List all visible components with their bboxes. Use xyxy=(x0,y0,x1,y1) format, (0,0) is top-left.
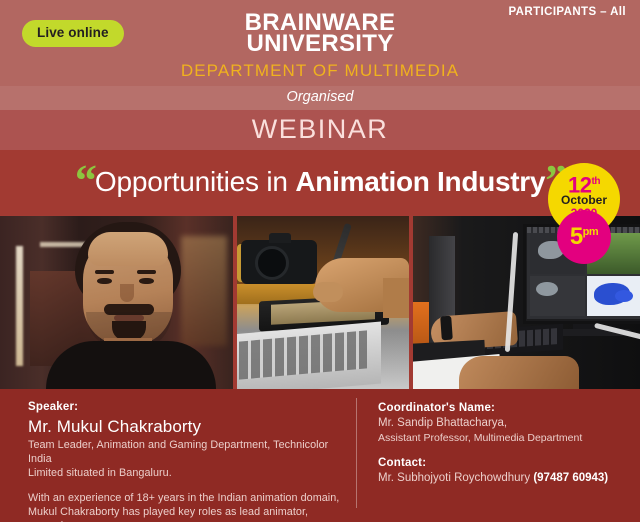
time-hour: 5 xyxy=(570,223,583,250)
event-type-label: WEBINAR xyxy=(0,114,640,145)
time-value: 5pm xyxy=(557,221,611,248)
webinar-poster: Live online PARTICIPANTS – All BRAINWARE… xyxy=(0,0,640,522)
drawing-thumb xyxy=(313,282,343,302)
wristwatch xyxy=(440,316,453,341)
speaker-name: Mr. Mukul Chakraborty xyxy=(28,416,346,438)
portrait-eyebrow-left xyxy=(95,270,114,274)
drawing-wrist xyxy=(383,278,409,318)
event-title: “Opportunities in Animation Industry” xyxy=(0,164,640,204)
coordinator-label: Coordinator's Name: xyxy=(378,401,628,416)
organised-label: Organised xyxy=(0,89,640,105)
title-band: “Opportunities in Animation Industry” xyxy=(0,150,640,215)
portrait-nose xyxy=(120,284,134,302)
portrait-eyebrow-right xyxy=(137,270,156,274)
photo-strip xyxy=(0,216,640,389)
speaker-bio-line-2: Mukul Chakraborty has played key roles a… xyxy=(28,505,346,522)
right-arm xyxy=(459,356,579,389)
university-logo: BRAINWARE UNIVERSITY DEPARTMENT OF MULTI… xyxy=(0,12,640,81)
contact-label: Contact: xyxy=(378,456,628,471)
contact-phone: (97487 60943) xyxy=(533,472,608,484)
model-thumbnail xyxy=(536,282,558,296)
speaker-portrait-photo xyxy=(0,216,233,389)
coordinator-name: Mr. Sandip Bhattacharya, xyxy=(378,416,628,431)
paragraph-gap xyxy=(28,480,346,491)
title-part-light: Opportunities in xyxy=(95,166,296,197)
contact-name: Mr. Subhojyoti Roychowdhury xyxy=(378,472,533,484)
coordinator-contact-column: Coordinator's Name: Mr. Sandip Bhattacha… xyxy=(378,401,628,485)
organised-band: Organised xyxy=(0,86,640,110)
blue-character-head xyxy=(615,290,633,302)
department-label: DEPARTMENT OF MULTIMEDIA xyxy=(0,61,640,81)
webinar-band: WEBINAR xyxy=(0,110,640,150)
header-band: Live online PARTICIPANTS – All BRAINWARE… xyxy=(0,0,640,86)
viewport-blue-character xyxy=(587,276,640,317)
portrait-right-glow xyxy=(181,236,227,346)
speaker-info-column: Speaker: Mr. Mukul Chakraborty Team Lead… xyxy=(28,400,346,522)
paragraph-gap-right xyxy=(378,445,628,456)
portrait-eye-right xyxy=(139,278,154,284)
column-divider xyxy=(356,398,357,508)
viewport-bottom-left xyxy=(530,276,585,317)
title-part-bold: Animation Industry xyxy=(295,166,545,197)
speaker-bio-line-1: With an experience of 18+ years in the I… xyxy=(28,491,346,505)
graphics-tablet-photo xyxy=(237,216,409,389)
speaker-role-line-1: Team Leader, Animation and Gaming Depart… xyxy=(28,438,346,466)
date-day: 12th xyxy=(548,172,620,194)
portrait-shirt xyxy=(46,341,216,389)
speaker-label: Speaker: xyxy=(28,400,346,415)
portrait-forehead xyxy=(88,232,168,266)
quote-open-icon: “ xyxy=(75,156,95,205)
portrait-eye-left xyxy=(97,278,112,284)
portrait-light-strip xyxy=(16,246,23,366)
camera-prism-hump xyxy=(269,233,291,243)
camera-lens xyxy=(255,246,289,280)
date-day-suffix: th xyxy=(592,176,600,187)
coordinator-designation: Assistant Professor, Multimedia Departme… xyxy=(378,431,628,445)
logo-line-university: UNIVERSITY xyxy=(0,33,640,54)
contact-line: Mr. Subhojyoti Roychowdhury (97487 60943… xyxy=(378,471,628,486)
speaker-role-line-2: Limited situated in Bangaluru. xyxy=(28,466,346,480)
time-meridiem: pm xyxy=(583,226,599,238)
time-badge: 5pm xyxy=(557,210,611,264)
